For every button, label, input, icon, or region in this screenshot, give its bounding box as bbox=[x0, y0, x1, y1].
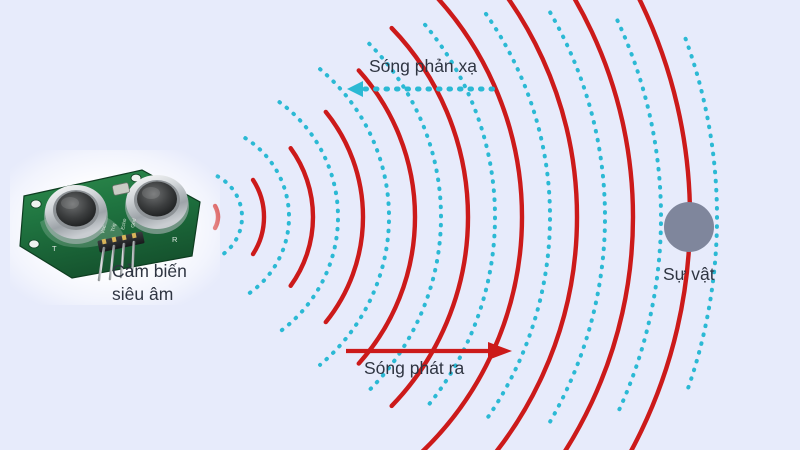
transducer-label-t: T bbox=[52, 244, 57, 253]
reflected-wave-arrow bbox=[345, 78, 505, 100]
emitted-wave-arc bbox=[253, 180, 264, 254]
reflected-wave-arc bbox=[218, 176, 242, 257]
transmitter-transducer bbox=[44, 185, 108, 244]
emitted-wave-arc bbox=[215, 206, 218, 228]
diagram-canvas: T R Vcc Trig Echo Gnd bbox=[0, 0, 800, 450]
emitted-wave-arc bbox=[359, 70, 415, 363]
reflected-wave-arc bbox=[320, 69, 389, 365]
sensor-label-line1: Cảm biến bbox=[112, 261, 187, 281]
transducer-label-r: R bbox=[172, 235, 178, 244]
emitted-wave-arc bbox=[488, 0, 633, 450]
reflected-wave-arc bbox=[617, 20, 661, 413]
reflected-arrow-head bbox=[347, 81, 363, 97]
reflected-wave-arc bbox=[245, 138, 289, 296]
object-label: Sự vật bbox=[663, 263, 715, 285]
object-circle bbox=[664, 202, 714, 252]
emitted-arrow-head bbox=[488, 342, 512, 360]
reflected-wave-label: Sóng phản xạ bbox=[369, 55, 477, 77]
emitted-wave-arc bbox=[291, 148, 313, 286]
sensor-label-line2: siêu âm bbox=[112, 284, 173, 304]
reflected-wave-arc bbox=[279, 102, 338, 332]
emitted-wave-arc bbox=[326, 112, 363, 322]
sensor-label: Cảm biến siêu âm bbox=[112, 260, 204, 306]
emitted-wave-label: Sóng phát ra bbox=[364, 357, 464, 379]
